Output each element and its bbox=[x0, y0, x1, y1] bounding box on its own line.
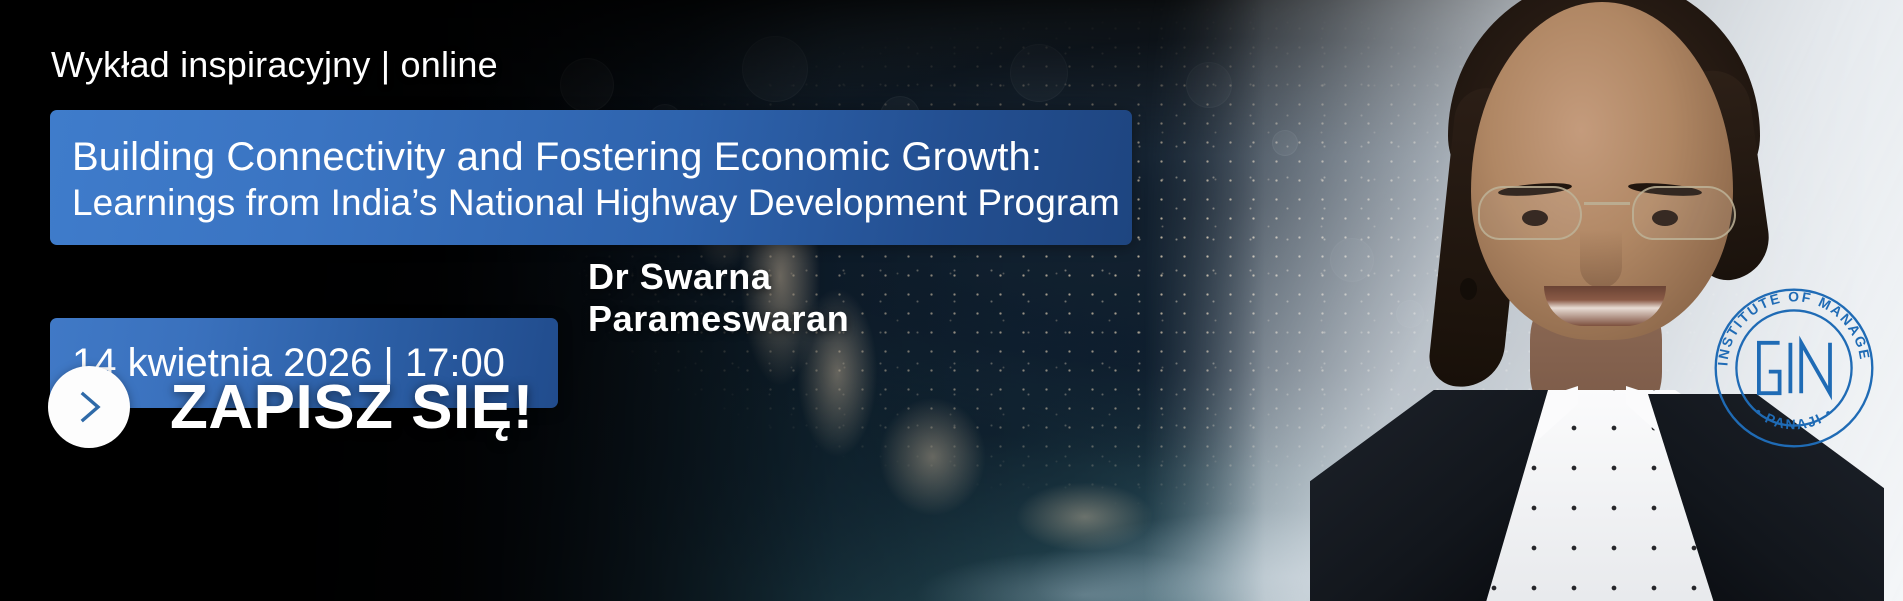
register-cta-label[interactable]: ZAPISZ SIĘ! bbox=[170, 372, 534, 443]
chevron-right-icon[interactable] bbox=[48, 366, 130, 448]
event-title-line-1: Building Connectivity and Fostering Econ… bbox=[72, 136, 1110, 178]
speaker-name-line-1: Dr Swarna bbox=[588, 256, 1008, 298]
logo-arc-bottom-text: • PANAJI • bbox=[1752, 404, 1837, 433]
gim-logo: GOA INSTITUTE OF MANAGEMENT • PANAJI • bbox=[1704, 278, 1884, 458]
speaker-name-line-2: Parameswaran bbox=[588, 298, 1008, 340]
event-title-line-2: Learnings from India’s National Highway … bbox=[72, 181, 1110, 225]
eyeglasses-icon bbox=[1476, 182, 1738, 244]
event-title-box: Building Connectivity and Fostering Econ… bbox=[50, 110, 1132, 245]
speaker-name: Dr Swarna Parameswaran bbox=[588, 256, 1008, 340]
register-cta[interactable]: ZAPISZ SIĘ! bbox=[48, 366, 534, 448]
event-banner: GOA INSTITUTE OF MANAGEMENT • PANAJI • W… bbox=[0, 0, 1903, 601]
event-kicker: Wykład inspiracyjny | online bbox=[51, 44, 498, 86]
